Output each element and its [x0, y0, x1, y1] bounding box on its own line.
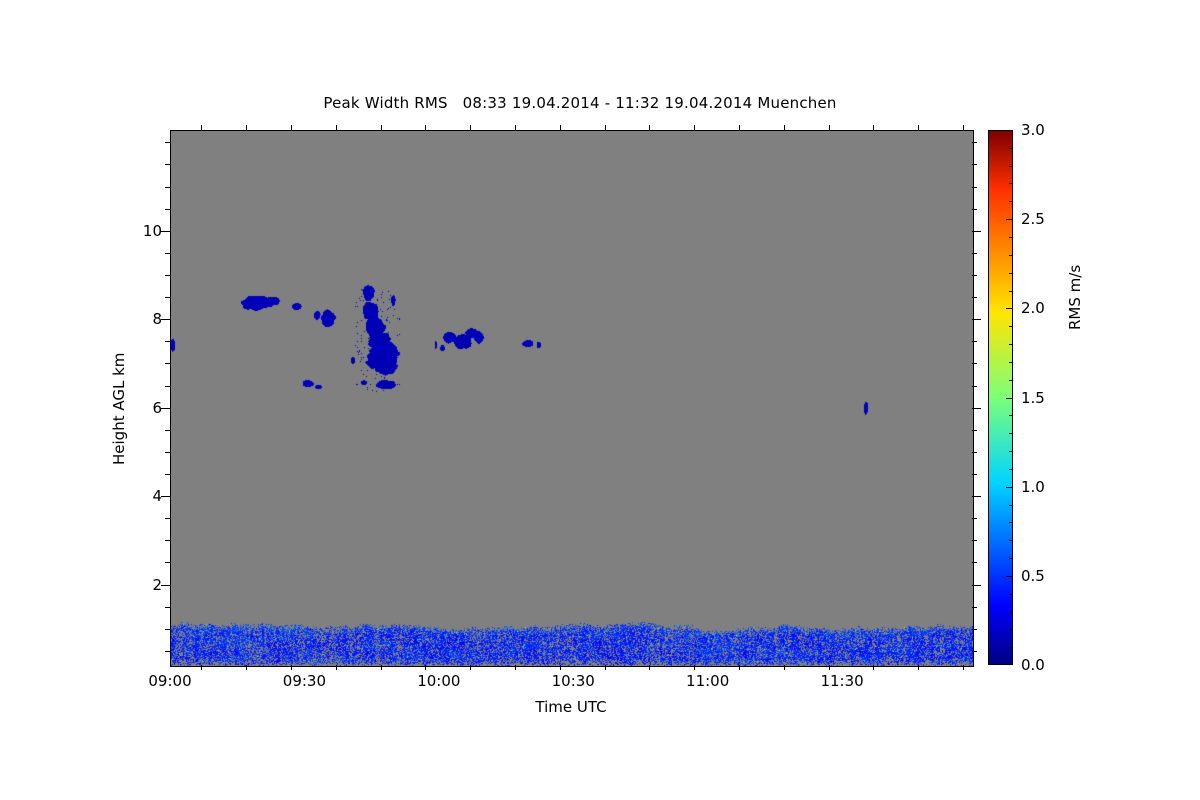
- tick-mark: [165, 142, 170, 143]
- tick-mark: [1009, 647, 1013, 648]
- tick-mark: [165, 474, 170, 475]
- tick-mark: [972, 408, 981, 409]
- tick-mark: [784, 125, 785, 130]
- tick-mark: [1009, 540, 1013, 541]
- colorbar-tick-label: 2.0: [1021, 299, 1045, 317]
- tick-mark: [1009, 505, 1013, 506]
- tick-mark: [972, 540, 977, 541]
- tick-mark: [1009, 612, 1013, 613]
- tick-mark: [165, 562, 170, 563]
- tick-mark: [201, 125, 202, 130]
- tick-mark: [972, 187, 977, 188]
- tick-mark: [560, 125, 561, 130]
- figure-canvas: Peak Width RMS 08:33 19.04.2014 - 11:32 …: [0, 0, 1200, 800]
- tick-mark: [515, 665, 516, 670]
- tick-mark: [1009, 380, 1013, 381]
- page-title: Peak Width RMS 08:33 19.04.2014 - 11:32 …: [0, 94, 1160, 112]
- tick-mark: [165, 518, 170, 519]
- tick-mark: [425, 665, 426, 670]
- tick-mark: [161, 408, 170, 409]
- tick-mark: [1009, 201, 1013, 202]
- tick-mark: [165, 540, 170, 541]
- tick-mark: [165, 187, 170, 188]
- tick-mark: [694, 665, 695, 670]
- tick-mark: [918, 125, 919, 130]
- tick-mark: [972, 629, 977, 630]
- tick-mark: [972, 430, 977, 431]
- tick-mark: [1009, 255, 1013, 256]
- tick-mark: [165, 341, 170, 342]
- tick-mark: [605, 125, 606, 130]
- tick-mark: [963, 125, 964, 130]
- tick-mark: [165, 430, 170, 431]
- tick-mark: [470, 125, 471, 130]
- tick-mark: [739, 665, 740, 670]
- tick-mark: [972, 231, 981, 232]
- tick-mark: [1009, 451, 1013, 452]
- tick-mark: [165, 629, 170, 630]
- tick-mark: [1009, 166, 1013, 167]
- tick-mark: [161, 585, 170, 586]
- heatmap-data-layer: [171, 131, 973, 666]
- tick-mark: [972, 518, 977, 519]
- tick-mark: [1006, 308, 1013, 309]
- tick-mark: [972, 297, 977, 298]
- tick-mark: [1006, 219, 1013, 220]
- tick-mark: [1009, 469, 1013, 470]
- tick-mark: [515, 125, 516, 130]
- tick-mark: [918, 665, 919, 670]
- x-tick-label: 09:00: [148, 672, 191, 690]
- tick-mark: [1009, 415, 1013, 416]
- tick-mark: [972, 496, 981, 497]
- tick-mark: [165, 363, 170, 364]
- tick-mark: [972, 585, 981, 586]
- tick-mark: [381, 125, 382, 130]
- tick-mark: [1009, 344, 1013, 345]
- tick-mark: [649, 665, 650, 670]
- tick-mark: [165, 386, 170, 387]
- colorbar-tick-label: 3.0: [1021, 121, 1045, 139]
- tick-mark: [246, 665, 247, 670]
- tick-mark: [1009, 183, 1013, 184]
- tick-mark: [972, 607, 977, 608]
- tick-mark: [972, 341, 977, 342]
- colorbar-tick-label: 0.5: [1021, 567, 1045, 585]
- tick-mark: [161, 319, 170, 320]
- tick-mark: [1006, 576, 1013, 577]
- tick-mark: [1009, 237, 1013, 238]
- tick-mark: [605, 665, 606, 670]
- tick-mark: [165, 297, 170, 298]
- tick-mark: [1009, 362, 1013, 363]
- tick-mark: [165, 164, 170, 165]
- tick-mark: [336, 125, 337, 130]
- tick-mark: [873, 125, 874, 130]
- tick-mark: [1006, 398, 1013, 399]
- tick-mark: [972, 142, 977, 143]
- tick-mark: [972, 562, 977, 563]
- tick-mark: [246, 125, 247, 130]
- tick-mark: [784, 665, 785, 670]
- tick-mark: [694, 125, 695, 130]
- tick-mark: [972, 164, 977, 165]
- tick-mark: [1009, 433, 1013, 434]
- tick-mark: [291, 125, 292, 130]
- x-tick-label: 10:00: [417, 672, 460, 690]
- x-tick-label: 11:30: [820, 672, 863, 690]
- tick-mark: [972, 253, 977, 254]
- tick-mark: [1009, 273, 1013, 274]
- tick-mark: [1006, 487, 1013, 488]
- tick-mark: [165, 253, 170, 254]
- tick-mark: [161, 496, 170, 497]
- x-axis-title: Time UTC: [170, 698, 972, 716]
- tick-mark: [165, 452, 170, 453]
- x-tick-label: 09:30: [283, 672, 326, 690]
- colorbar-ticklabels: 0.00.51.01.52.02.53.0: [1017, 130, 1077, 665]
- tick-mark: [291, 665, 292, 670]
- tick-mark: [381, 665, 382, 670]
- tick-mark: [336, 665, 337, 670]
- colorbar-tick-label: 1.5: [1021, 389, 1045, 407]
- tick-mark: [972, 474, 977, 475]
- tick-mark: [425, 125, 426, 130]
- tick-mark: [972, 209, 977, 210]
- tick-mark: [1009, 326, 1013, 327]
- tick-mark: [165, 209, 170, 210]
- colorbar-tick-label: 2.5: [1021, 210, 1045, 228]
- tick-mark: [161, 231, 170, 232]
- tick-mark: [165, 275, 170, 276]
- colorbar-tick-label: 0.0: [1021, 656, 1045, 674]
- tick-mark: [1009, 522, 1013, 523]
- tick-mark: [829, 125, 830, 130]
- tick-mark: [972, 386, 977, 387]
- x-tick-label: 10:30: [552, 672, 595, 690]
- tick-mark: [972, 275, 977, 276]
- tick-mark: [470, 665, 471, 670]
- tick-mark: [963, 665, 964, 670]
- tick-mark: [972, 452, 977, 453]
- tick-mark: [649, 125, 650, 130]
- tick-mark: [1009, 148, 1013, 149]
- tick-mark: [972, 319, 981, 320]
- plot-axes-area[interactable]: [170, 130, 974, 667]
- tick-mark: [1009, 291, 1013, 292]
- tick-mark: [972, 651, 977, 652]
- tick-mark: [873, 665, 874, 670]
- tick-mark: [165, 607, 170, 608]
- tick-mark: [739, 125, 740, 130]
- y-axis-title: Height AGL km: [110, 353, 128, 465]
- x-axis-ticklabels: 09:0009:3010:0010:3011:0011:30: [170, 672, 972, 696]
- tick-mark: [1009, 558, 1013, 559]
- tick-mark: [560, 665, 561, 670]
- colorbar-title: RMS m/s: [1066, 265, 1084, 330]
- colorbar-tick-label: 1.0: [1021, 478, 1045, 496]
- tick-mark: [972, 363, 977, 364]
- x-tick-label: 11:00: [686, 672, 729, 690]
- tick-mark: [829, 665, 830, 670]
- tick-mark: [201, 665, 202, 670]
- y-tick-label: 10: [143, 222, 162, 240]
- tick-mark: [1009, 629, 1013, 630]
- tick-mark: [1009, 594, 1013, 595]
- tick-mark: [165, 651, 170, 652]
